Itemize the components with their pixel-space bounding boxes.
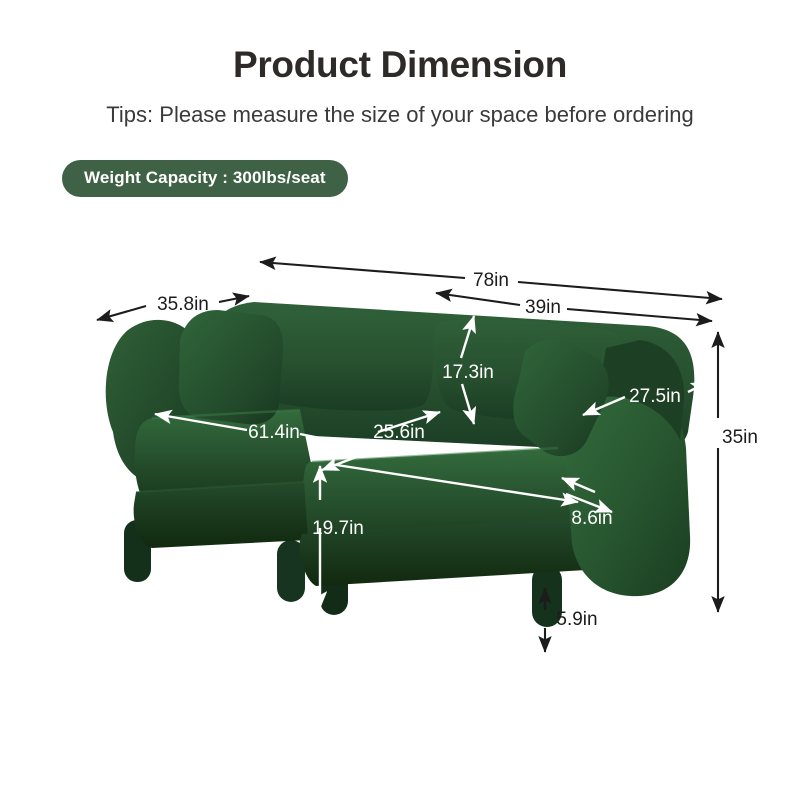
dim-overall-width: 78in [260, 262, 722, 299]
dim-label-back-width: 39in [525, 297, 561, 318]
dim-label-seat-width: 61.4in [248, 422, 300, 443]
dim-label-seat-depth: 25.6in [373, 422, 425, 443]
sofa-dimension-diagram: 78in 39in 35.8in 17.3in 61.4in [0, 0, 800, 800]
throw-pillow-left [179, 310, 283, 424]
dim-label-overall-depth: 35.8in [157, 294, 209, 315]
dim-label-arm-depth: 27.5in [629, 386, 681, 407]
sofa-base-left [134, 482, 308, 548]
dim-label-leg-height: 5.9in [556, 609, 597, 630]
dim-label-overall-height: 35in [722, 427, 758, 448]
dim-label-arm-width: 8.6in [571, 508, 612, 529]
dim-label-seat-height: 19.7in [312, 518, 364, 539]
dim-label-overall-width: 78in [473, 270, 509, 291]
product-dimension-page: Product Dimension Tips: Please measure t… [0, 0, 800, 800]
dim-overall-height: 35in [718, 332, 758, 612]
sofa-illustration [106, 302, 695, 627]
dim-label-backrest-height: 17.3in [442, 362, 494, 383]
